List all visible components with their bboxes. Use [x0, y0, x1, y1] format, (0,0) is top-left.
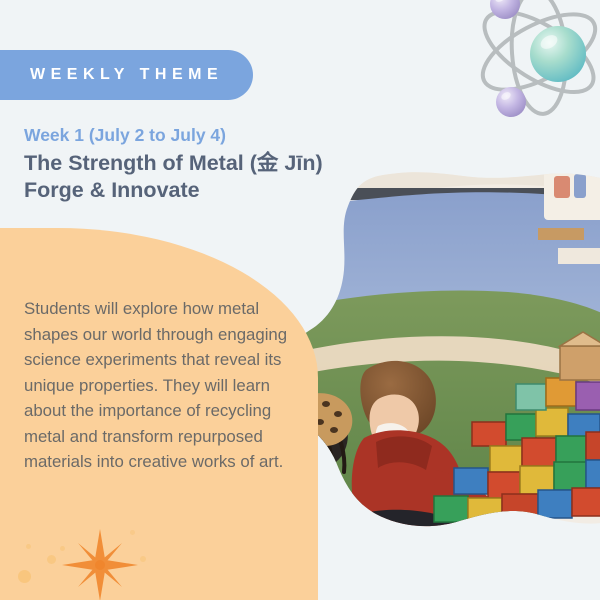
weekly-theme-badge: WEEKLY THEME	[0, 50, 253, 100]
sparkle-dot	[140, 556, 146, 562]
sparkle-dot	[60, 546, 65, 551]
poster-canvas: WEEKLY THEME Week 1 (July 2 to July 4) T…	[0, 0, 600, 600]
week-range-label: Week 1 (July 2 to July 4)	[24, 125, 374, 147]
sparkle-dot	[47, 555, 56, 564]
theme-title-line-2: Forge & Innovate	[24, 177, 374, 205]
atom-icon	[455, 0, 600, 147]
weekly-theme-label: WEEKLY THEME	[30, 66, 223, 84]
theme-description: Students will explore how metal shapes o…	[24, 296, 292, 475]
sparkle-dot	[26, 544, 31, 549]
theme-title-line-1: The Strength of Metal (金 Jīn)	[24, 150, 374, 178]
heading-block: Week 1 (July 2 to July 4) The Strength o…	[24, 125, 374, 205]
sparkle-dot	[18, 570, 31, 583]
sparkle-dot	[130, 530, 135, 535]
